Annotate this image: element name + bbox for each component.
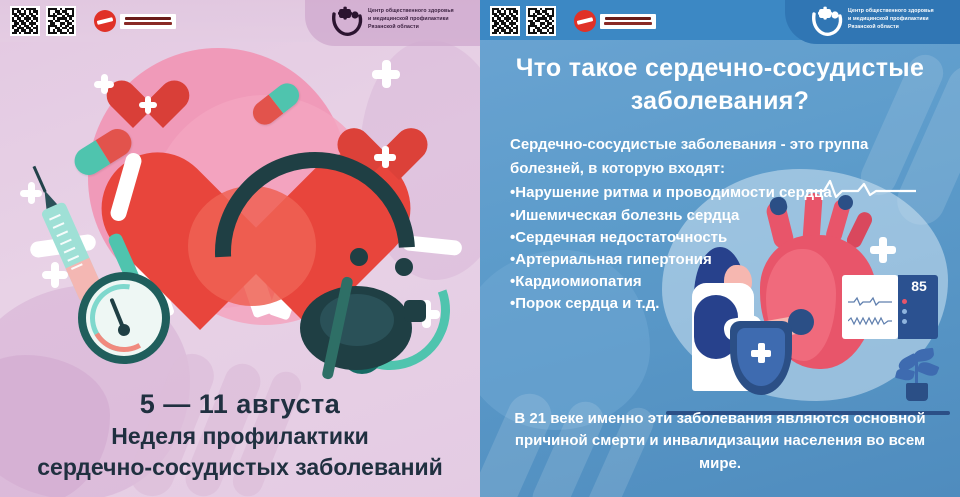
logo-line-1: Центр общественного здоровья [848,7,954,15]
right-poster-footer: В 21 веке именно эти заболевания являютс… [506,408,934,476]
white-plus-icon-b [372,60,400,88]
list-item: Кардиомиопатия [510,271,910,293]
white-plus-icon-e [20,182,42,204]
no-smoking-stamp-icon [94,10,116,32]
health-center-logo-icon [330,6,364,38]
left-poster: Центр общественного здоровья и медицинск… [0,0,480,497]
qr-code-1[interactable] [10,6,40,36]
stethoscope-earpiece-2 [395,258,413,276]
list-item: Ишемическая болезнь сердца [510,205,910,227]
logo-line-3: Рязанской области [848,23,954,31]
right-poster: 85 [480,0,960,497]
qr-code-2[interactable] [46,6,76,36]
heart-cross-icon-1 [139,96,157,114]
no-smoking-stamp-icon-2 [574,10,596,32]
heart-cross-icon-2 [374,146,396,168]
campaign-subtitle-line-2: сердечно-сосудистых заболеваний [0,453,480,483]
footer-line-3: мире. [506,453,934,476]
plant-leaf-4 [895,367,915,382]
left-text-block: 5 — 11 августа Неделя профилактики серде… [0,389,480,483]
list-item: Сердечная недостаточность [510,227,910,249]
footer-line-1: В 21 веке именно эти заболевания являютс… [506,408,934,431]
footer-line-2: причиной смерти и инвалидизации населени… [506,430,934,453]
campaign-subtitle-line-1: Неделя профилактики [0,422,480,452]
lead-line-1: Сердечно-сосудистые заболевания - это гр… [510,134,910,156]
stethoscope-earpiece-1 [350,248,368,266]
logo-line-3: Рязанской области [368,23,474,31]
logo-line-1: Центр общественного здоровья [368,7,474,15]
white-plus-icon-a [94,74,114,94]
white-plus-icon-c [42,262,68,288]
health-center-logo-icon-2 [810,6,844,38]
list-item: Артериальная гипертония [510,249,910,271]
left-logo-text: Центр общественного здоровья и медицинск… [368,7,474,31]
campaign-date-range: 5 — 11 августа [0,389,480,421]
right-header-bar: Центр общественного здоровья и медицинск… [480,0,960,40]
left-header-bar: Центр общественного здоровья и медицинск… [0,0,480,42]
plant-pot [906,383,928,401]
right-logo-text: Центр общественного здоровья и медицинск… [848,7,954,31]
logo-line-2: и медицинской профилактики [848,15,954,23]
shield-cross-icon [751,343,771,363]
potted-plant-icon [892,343,942,401]
monitor-indicator-3 [902,319,907,324]
qr-code-4[interactable] [526,6,556,36]
lead-line-2: болезней, в которую входят: [510,158,910,180]
list-item: Порок сердца и т.д. [510,293,910,315]
disease-list-block: Сердечно-сосудистые заболевания - это гр… [510,134,910,316]
bp-bulb-valve [404,300,426,322]
disease-list: Нарушение ритма и проводимости сердца Иш… [510,182,910,315]
poster-pair: Центр общественного здоровья и медицинск… [0,0,960,497]
bp-gauge-hub [118,324,130,336]
hotline-banner [120,14,176,29]
plant-leaf-3 [916,360,939,379]
plant-leaf-2 [913,348,934,363]
stamp-bar-2 [577,17,593,25]
hotline-banner-2 [600,14,656,29]
logo-line-2: и медицинской профилактики [368,15,474,23]
right-poster-title: Что такое сердечно-сосудистые заболевани… [500,52,940,118]
qr-code-3[interactable] [490,6,520,36]
title-line-1: Что такое сердечно-сосудистые [500,52,940,85]
shield-icon [730,321,792,395]
title-line-2: заболевания? [500,85,940,118]
stamp-bar [97,17,113,25]
list-item: Нарушение ритма и проводимости сердца [510,182,910,204]
